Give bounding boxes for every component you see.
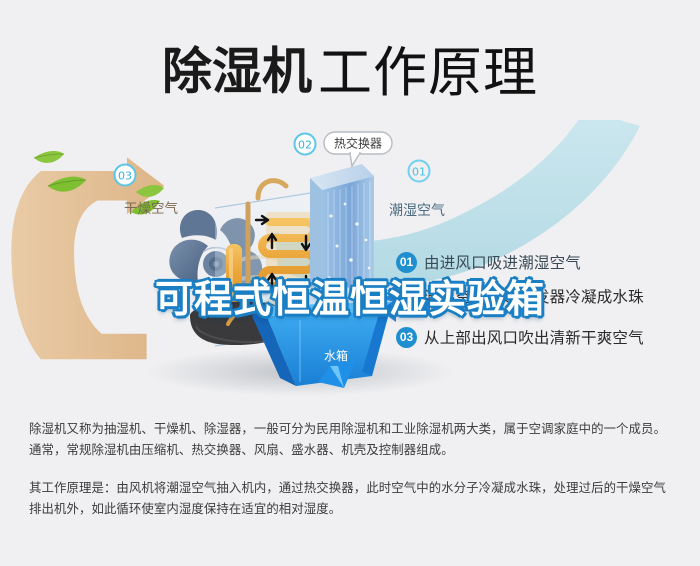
step-item-01: 01 由进风口吸进潮湿空气 bbox=[396, 246, 696, 278]
label-humid-air: 01 潮湿空气 bbox=[389, 161, 445, 220]
label-heat-exchanger: 02 热交换器 bbox=[295, 132, 393, 166]
step-text-03: 从上部出风口吹出清新干爽空气 bbox=[424, 326, 644, 348]
step-badge-03: 03 bbox=[396, 327, 417, 348]
step-text-02: 潮湿空气经过蒸发器冷凝成水珠 bbox=[424, 285, 644, 307]
step-badge-02: 02 bbox=[396, 286, 417, 307]
paragraph-2-line-2: 排出机外，如此循环使室内湿度保持在适宜的相对湿度。 bbox=[29, 498, 679, 519]
paragraph-1-line-2: 通常，常规除湿机由压缩机、热交换器、风扇、盛水器、机壳及控制器组成。 bbox=[29, 439, 679, 460]
paragraph-2-line-1: 其工作原理是：由风机将潮湿空气抽入机内，通过热交换器，此时空气中的水分子冷凝成水… bbox=[29, 477, 679, 498]
paragraph-2: 其工作原理是：由风机将潮湿空气抽入机内，通过热交换器，此时空气中的水分子冷凝成水… bbox=[29, 477, 679, 519]
dry-air-arrow bbox=[11, 157, 164, 359]
step-text-01: 由进风口吸进潮湿空气 bbox=[424, 251, 581, 273]
badge-02-label: 02 bbox=[298, 139, 312, 152]
water-tank-label: 水箱 bbox=[324, 348, 348, 363]
badge-03-label: 03 bbox=[118, 170, 132, 183]
page-title-part2: 工作原理 bbox=[318, 43, 538, 103]
step-item-02: 02 潮湿空气经过蒸发器冷凝成水珠 bbox=[396, 280, 696, 312]
step-item-03: 03 从上部出风口吹出清新干爽空气 bbox=[396, 321, 696, 353]
description-block: 除湿机又称为抽湿机、干燥机、除湿器，一般可分为民用除湿机和工业除湿机两大类，属于… bbox=[29, 418, 679, 519]
page-title: 除湿机工作原理 bbox=[0, 28, 700, 107]
step-list: 01 由进风口吸进潮湿空气 02 潮湿空气经过蒸发器冷凝成水珠 03 从上部出风… bbox=[396, 246, 696, 355]
page-root: 除湿机工作原理 bbox=[0, 0, 700, 566]
dry-air-label: 干燥空气 bbox=[124, 201, 178, 217]
page-title-part1: 除湿机 bbox=[162, 43, 312, 101]
badge-01-label: 01 bbox=[412, 166, 426, 179]
paragraph-1: 除湿机又称为抽湿机、干燥机、除湿器，一般可分为民用除湿机和工业除湿机两大类，属于… bbox=[29, 418, 679, 460]
paragraph-1-line-1: 除湿机又称为抽湿机、干燥机、除湿器，一般可分为民用除湿机和工业除湿机两大类，属于… bbox=[29, 418, 679, 439]
step-badge-01: 01 bbox=[396, 252, 417, 273]
humid-air-label: 潮湿空气 bbox=[389, 203, 445, 219]
heat-exchanger-label: 热交换器 bbox=[334, 136, 382, 151]
